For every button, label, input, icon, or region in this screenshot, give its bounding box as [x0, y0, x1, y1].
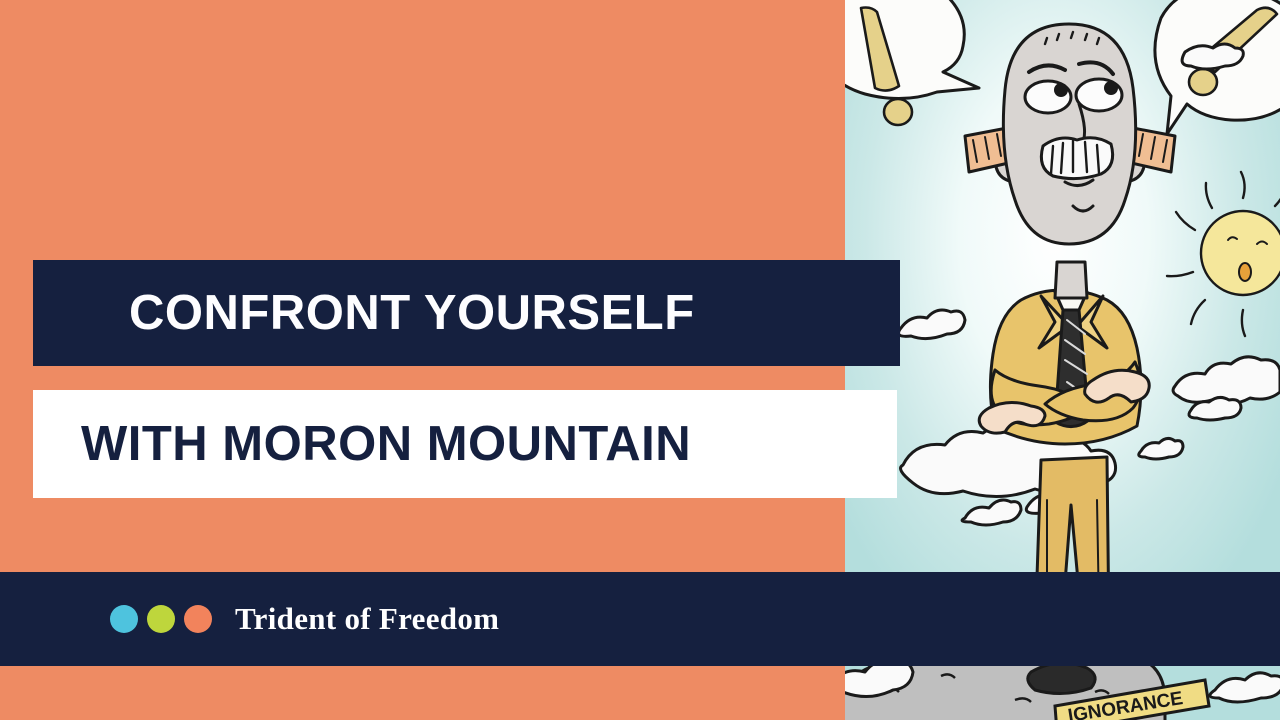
title-bar-secondary: WITH MORON MOUNTAIN	[33, 390, 897, 498]
brand-dots	[110, 605, 212, 633]
head	[1003, 24, 1135, 244]
brand-dot-coral	[184, 605, 212, 633]
footer-bar: Trident of Freedom	[0, 572, 1280, 666]
brand-dot-cyan	[110, 605, 138, 633]
episode-title-primary: CONFRONT YOURSELF	[33, 289, 695, 338]
title-bar-primary: CONFRONT YOURSELF	[33, 260, 900, 366]
episode-title-secondary: WITH MORON MOUNTAIN	[33, 420, 691, 469]
brand-dot-lime	[147, 605, 175, 633]
shoe	[1028, 663, 1095, 694]
podcast-name: Trident of Freedom	[235, 601, 499, 637]
